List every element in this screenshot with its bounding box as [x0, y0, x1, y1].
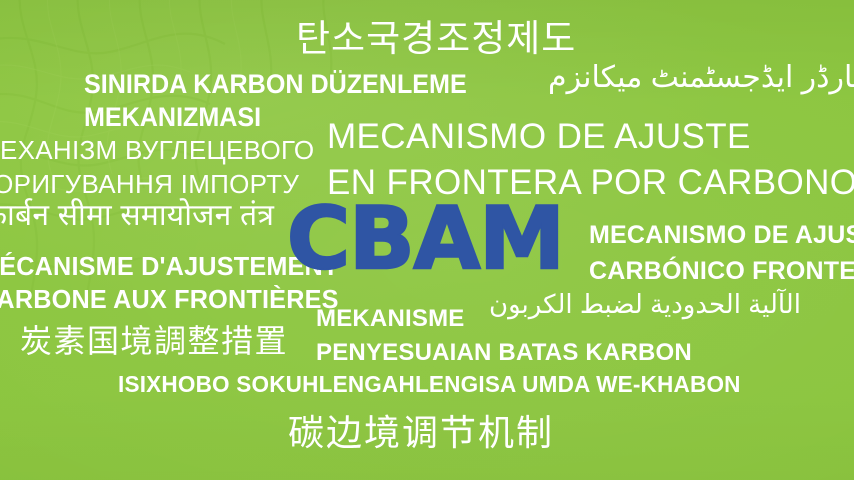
- term-indonesian-line-1: MEKANISME: [316, 302, 692, 336]
- term-hindi: कार्बन सीमा समायोजन तंत्र: [0, 200, 274, 231]
- term-chinese: 碳边境调节机制: [288, 414, 554, 451]
- term-portuguese-line-2: CARBÓNICO FRONTEIRIÇO: [589, 254, 854, 290]
- term-ukrainian: МЕХАНІЗМ ВУГЛЕЦЕВОГО КОРИГУВАННЯ ІМПОРТУ: [0, 133, 314, 202]
- term-turkish-line-1: SINIRDA KARBON DÜZENLEME: [84, 68, 467, 101]
- term-indonesian: MEKANISME PENYESUAIAN BATAS KARBON: [316, 302, 692, 370]
- term-korean: 탄소국경조정제도: [296, 20, 576, 58]
- term-urdu: کاربن بارڈر ایڈجسٹمنٹ میکانزم: [548, 62, 854, 93]
- term-portuguese: MECANISMO DE AJUSTE CARBÓNICO FRONTEIRIÇ…: [589, 218, 854, 289]
- cbam-logotype: CBAM: [287, 196, 564, 282]
- term-spanish-line-1: MECANISMO DE AJUSTE: [327, 114, 854, 160]
- cbam-banner: 탄소국경조정제도 SINIRDA KARBON DÜZENLEME MEKANI…: [0, 0, 854, 480]
- term-ukrainian-line-1: МЕХАНІЗМ ВУГЛЕЦЕВОГО: [0, 133, 314, 167]
- term-indonesian-line-2: PENYESUAIAN BATAS KARBON: [316, 336, 692, 370]
- term-japanese: 炭素国境調整措置: [20, 325, 288, 358]
- term-portuguese-line-1: MECANISMO DE AJUSTE: [589, 218, 854, 254]
- term-ukrainian-line-2: КОРИГУВАННЯ ІМПОРТУ: [0, 167, 314, 201]
- term-xhosa: ISIXHOBO SOKUHLENGAHLENGISA UMDA WE-KHAB…: [118, 373, 741, 397]
